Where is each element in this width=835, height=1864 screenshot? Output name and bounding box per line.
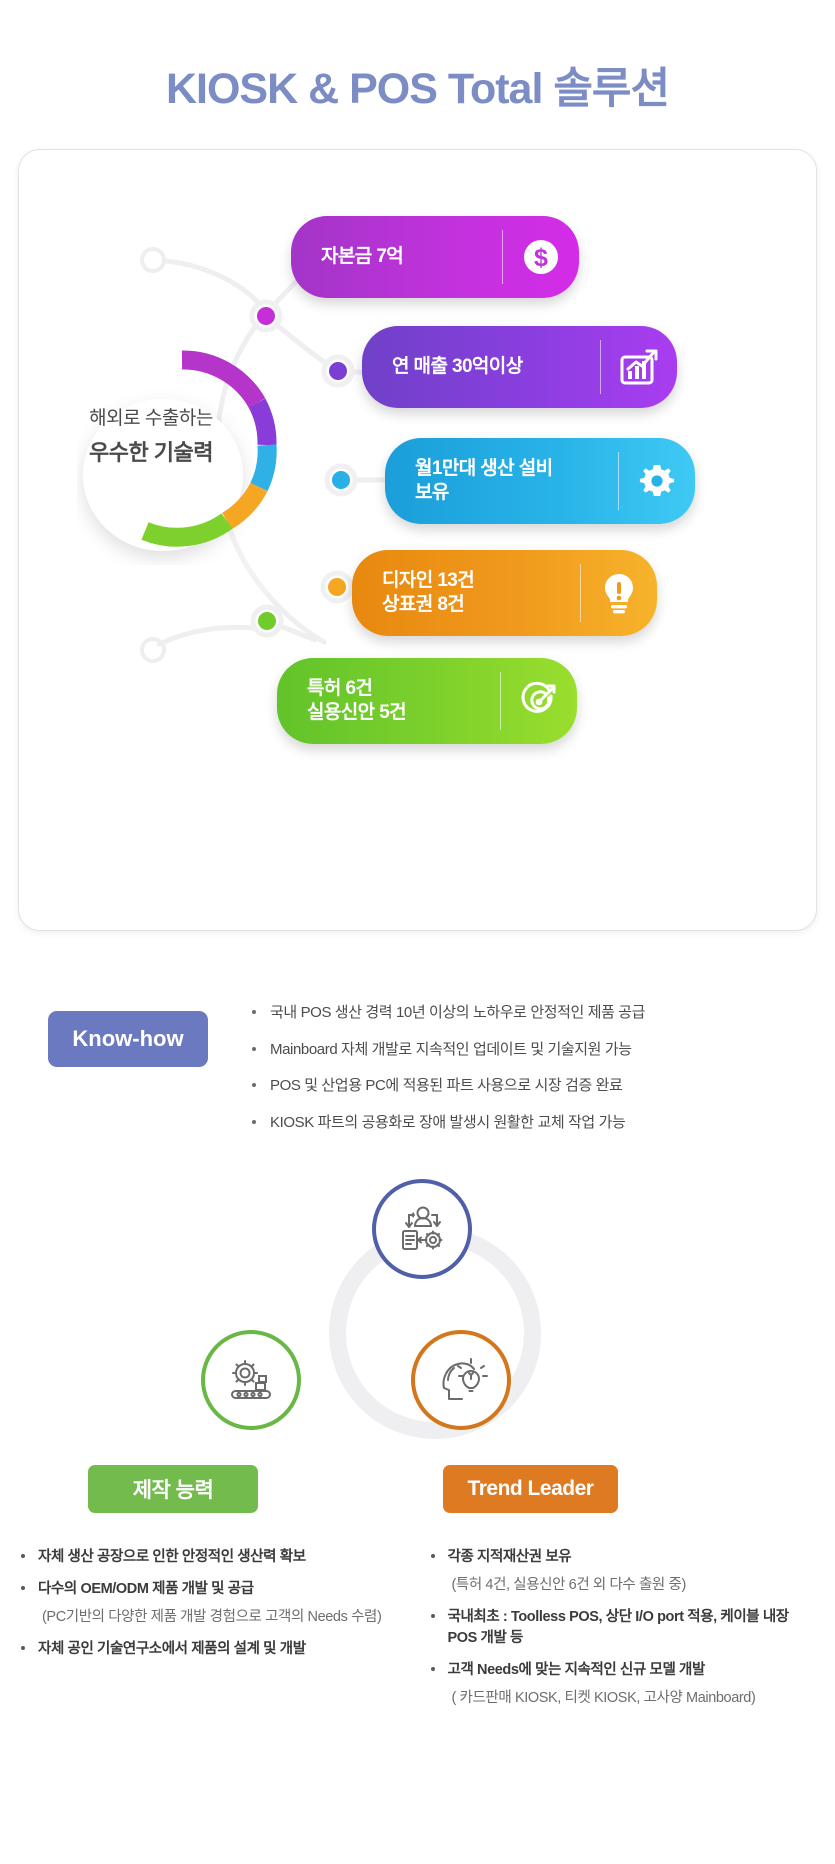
label-trend-leader: Trend Leader bbox=[443, 1465, 618, 1513]
stat-pill-revenue-label: 연 매출 30억이상 bbox=[362, 355, 600, 379]
page-title: KIOSK & POS Total 솔루션 bbox=[0, 0, 835, 113]
gear-conveyor-icon bbox=[223, 1355, 279, 1405]
column-right: 각종 지적재산권 보유 (특허 4건, 실용신안 6건 외 다수 출원 중) 국… bbox=[418, 1547, 822, 1720]
bottom-columns: 자체 생산 공장으로 인한 안정적인 생산력 확보 다수의 OEM/ODM 제품… bbox=[0, 1525, 835, 1750]
donut-center-label: 해외로 수출하는 우수한 기술력 bbox=[41, 405, 261, 469]
left-bullet-list: 자체 생산 공장으로 인한 안정적인 생산력 확보 다수의 OEM/ODM 제품… bbox=[18, 1547, 404, 1660]
list-item: Mainboard 자체 개발로 지속적인 업데이트 및 기술지원 가능 bbox=[250, 1040, 645, 1060]
list-item: KIOSK 파트의 공용화로 장애 발생시 원활한 교체 작업 가능 bbox=[250, 1113, 645, 1133]
right-bullet-list: 각종 지적재산권 보유 (특허 4건, 실용신안 6건 외 다수 출원 중) 국… bbox=[428, 1547, 822, 1709]
list-item: 고객 Needs에 맞는 지속적인 신규 모델 개발 bbox=[428, 1660, 822, 1681]
growth-chart-icon bbox=[601, 347, 677, 387]
list-item: 자체 생산 공장으로 인한 안정적인 생산력 확보 bbox=[18, 1547, 404, 1568]
list-item-sub: ( 카드판매 KIOSK, 티켓 KIOSK, 고사양 Mainboard) bbox=[428, 1688, 822, 1709]
label-manufacturing: 제작 능력 bbox=[88, 1465, 258, 1513]
svg-text:$: $ bbox=[534, 244, 548, 272]
stat-pill-capital[interactable]: 자본금 7억 $ bbox=[291, 216, 579, 298]
donut-label-line1: 해외로 수출하는 bbox=[41, 405, 261, 434]
list-item: 자체 공인 기술연구소에서 제품의 설계 및 개발 bbox=[18, 1639, 404, 1660]
diagram-node-process[interactable] bbox=[372, 1179, 472, 1279]
stat-pill-capital-label: 자본금 7억 bbox=[291, 245, 502, 269]
list-item: 다수의 OEM/ODM 제품 개발 및 공급 bbox=[18, 1579, 404, 1600]
stat-pill-design-label: 디자인 13건 상표권 8건 bbox=[352, 569, 580, 618]
knowhow-bullet-list: 국내 POS 생산 경력 10년 이상의 노하우로 안정적인 제품 공급 Mai… bbox=[250, 997, 645, 1149]
lightbulb-exclaim-icon bbox=[581, 572, 657, 614]
list-item: 각종 지적재산권 보유 bbox=[428, 1547, 822, 1568]
list-item: 국내최초 : Toolless POS, 상단 I/O port 적용, 케이블… bbox=[428, 1607, 822, 1649]
diagram-node-manufacturing[interactable] bbox=[201, 1330, 301, 1430]
stat-pill-capacity[interactable]: 월1만대 생산 설비 보유 bbox=[385, 438, 695, 524]
dollar-coin-icon: $ bbox=[503, 237, 579, 277]
list-item: 국내 POS 생산 경력 10년 이상의 노하우로 안정적인 제품 공급 bbox=[250, 1003, 645, 1023]
donut-label-line2: 우수한 기술력 bbox=[41, 436, 261, 469]
target-dart-icon bbox=[501, 680, 577, 722]
column-left: 자체 생산 공장으로 인한 안정적인 생산력 확보 다수의 OEM/ODM 제품… bbox=[14, 1547, 418, 1720]
stat-pill-revenue[interactable]: 연 매출 30억이상 bbox=[362, 326, 677, 408]
page-root: KIOSK & POS Total 솔루션 bbox=[0, 0, 835, 1864]
head-lightbulb-icon bbox=[433, 1355, 489, 1405]
stat-pill-capacity-label: 월1만대 생산 설비 보유 bbox=[385, 457, 618, 506]
stat-pill-patent[interactable]: 특허 6건 실용신안 5건 bbox=[277, 658, 577, 744]
infographic-card: 해외로 수출하는 우수한 기술력 자본금 7억 $ 연 매출 30억이상 bbox=[18, 149, 817, 931]
diagram-node-trend[interactable] bbox=[411, 1330, 511, 1430]
knowhow-badge: Know-how bbox=[48, 1011, 208, 1067]
list-item: POS 및 산업용 PC에 적용된 파트 사용으로 시장 검증 완료 bbox=[250, 1076, 645, 1096]
list-item-sub: (PC기반의 다양한 제품 개발 경험으로 고객의 Needs 수렴) bbox=[18, 1607, 404, 1628]
gear-icon bbox=[619, 461, 695, 501]
capability-circle-diagram bbox=[0, 1175, 835, 1465]
stat-pill-design[interactable]: 디자인 13건 상표권 8건 bbox=[352, 550, 657, 636]
list-item-sub: (특허 4건, 실용신안 6건 외 다수 출원 중) bbox=[428, 1575, 822, 1596]
workflow-person-gear-icon bbox=[394, 1203, 450, 1255]
knowhow-section: Know-how 국내 POS 생산 경력 10년 이상의 노하우로 안정적인 … bbox=[0, 997, 835, 1149]
column-labels: 제작 능력 Trend Leader bbox=[0, 1465, 835, 1525]
stat-pill-patent-label: 특허 6건 실용신안 5건 bbox=[277, 677, 500, 726]
